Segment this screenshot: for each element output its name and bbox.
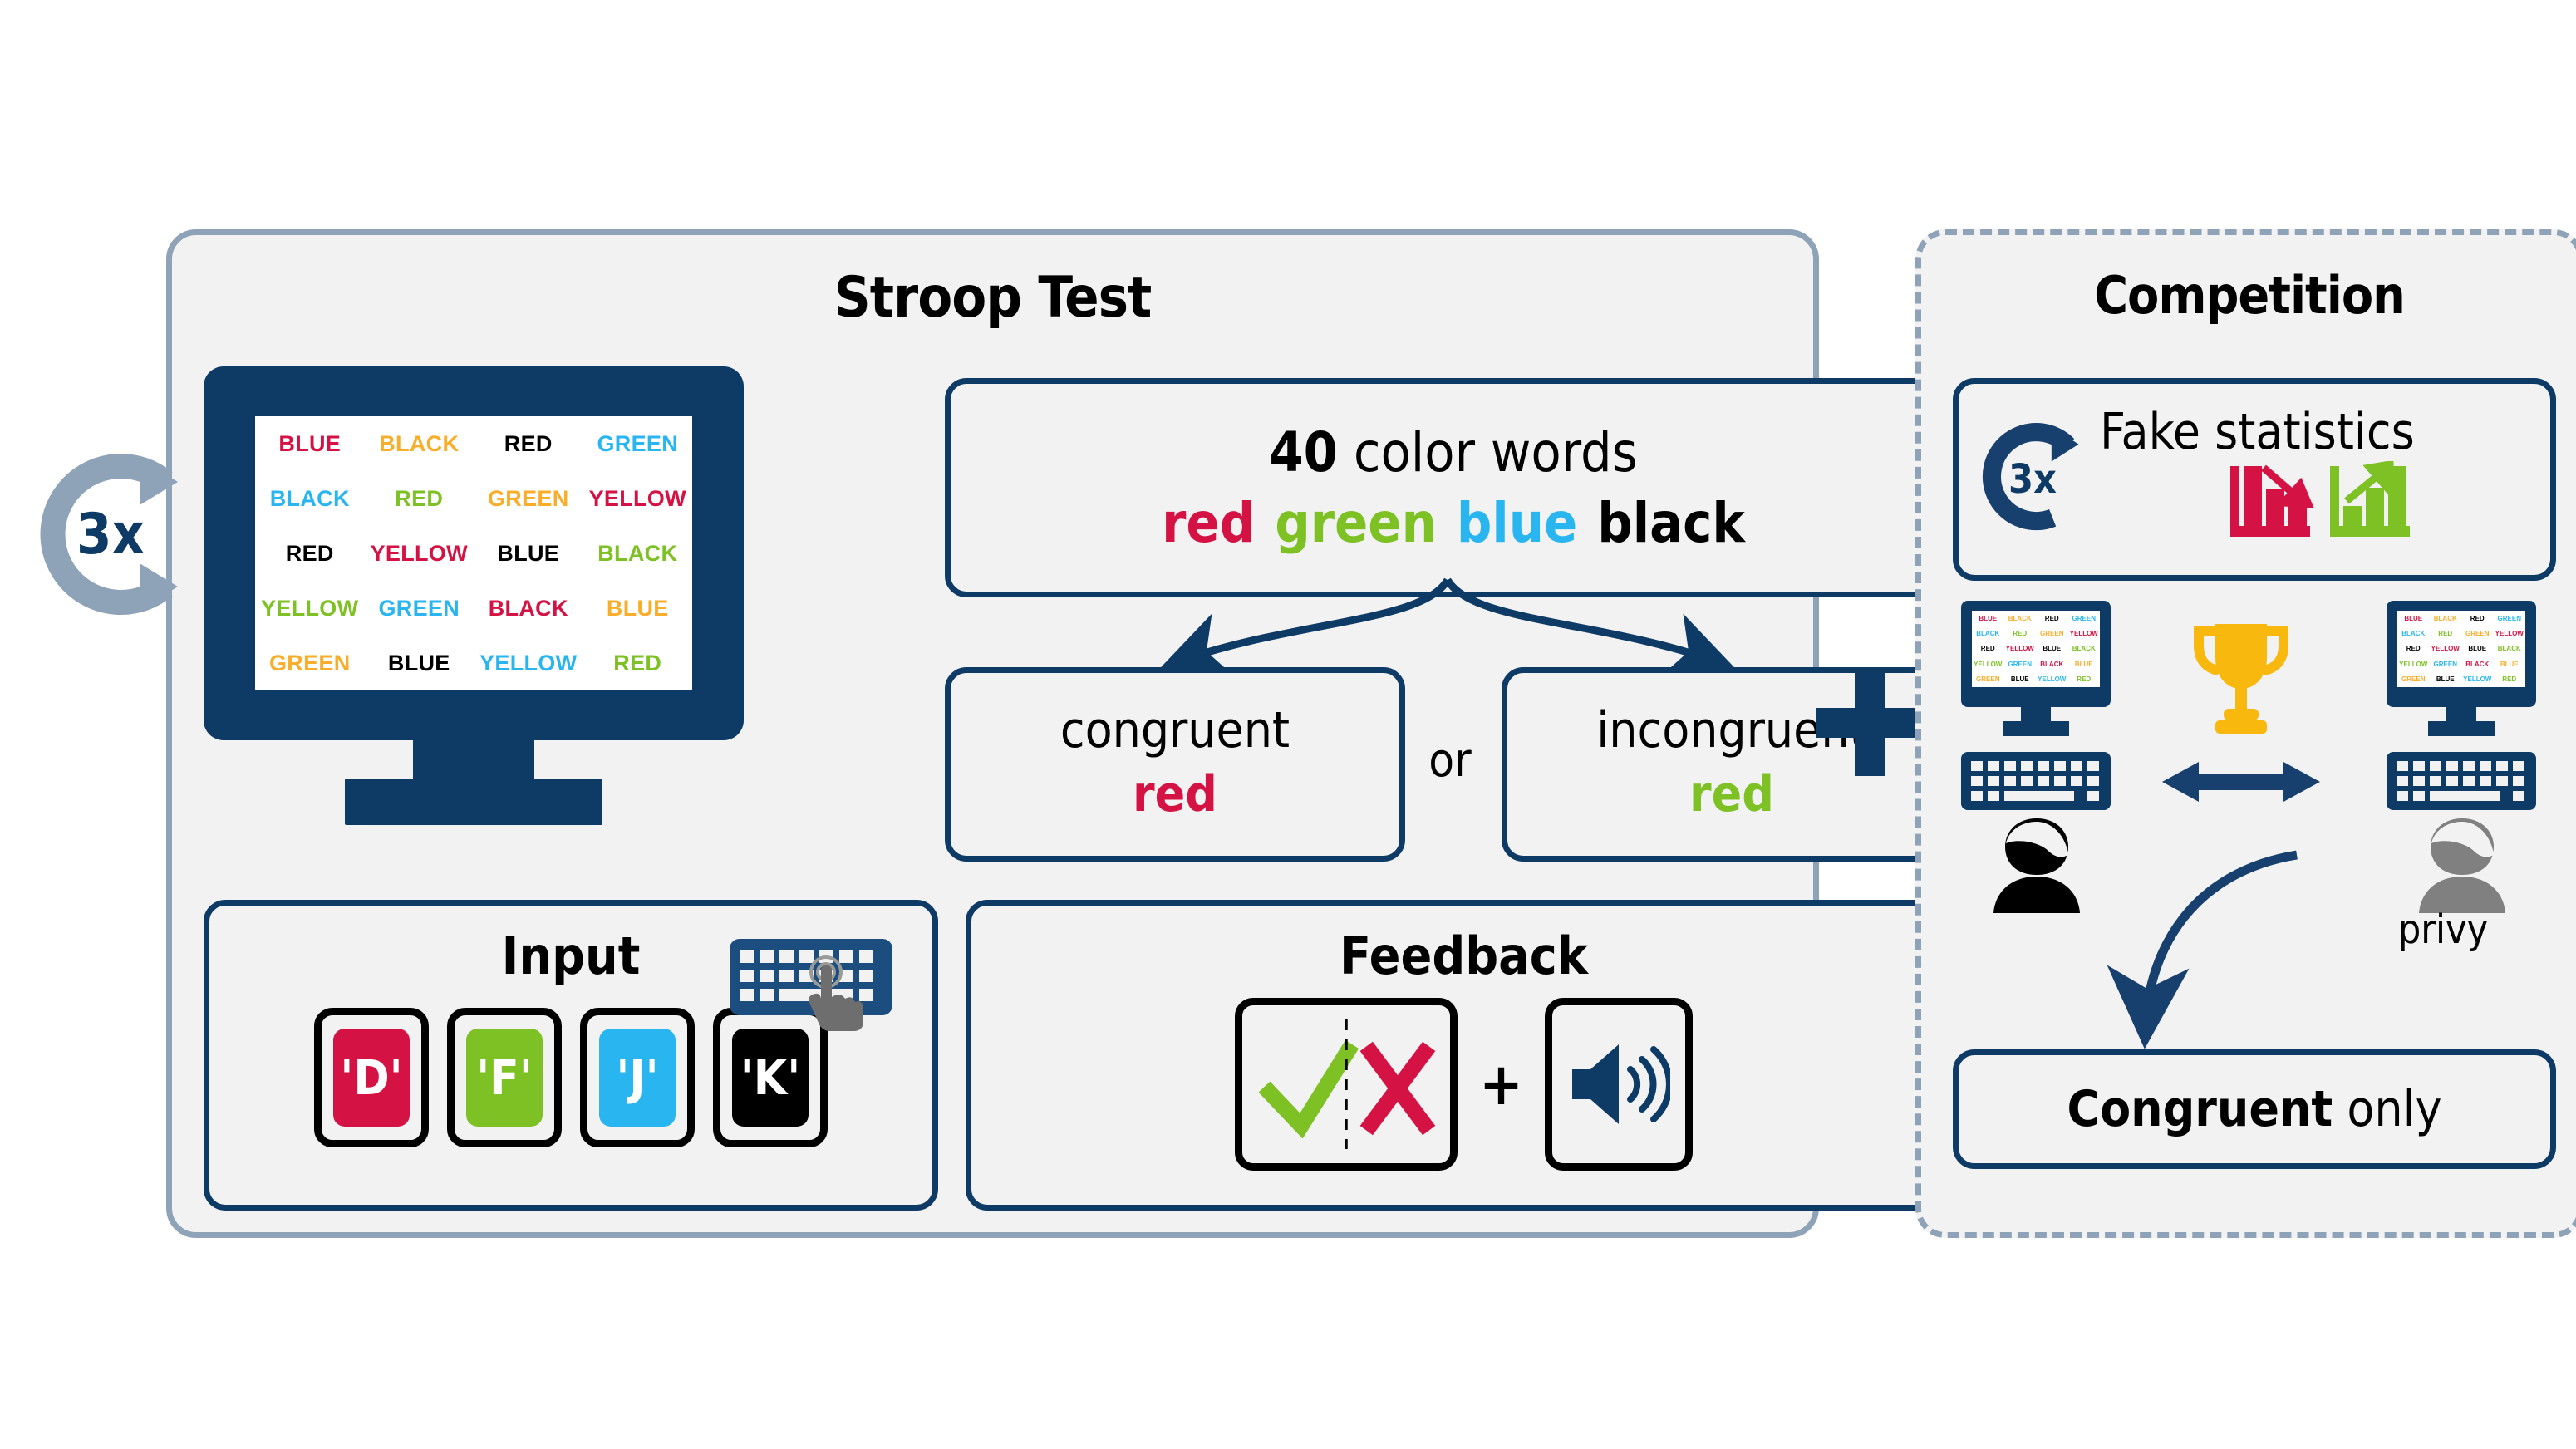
color-word-swatch: blue <box>1457 491 1577 555</box>
stroop-word-grid: BLUEBLACKREDGREENBLACKREDGREENYELLOWREDY… <box>255 416 692 690</box>
feedback-plus: + <box>1479 1050 1523 1118</box>
fake-statistics-label: Fake statistics <box>2100 403 2415 461</box>
mini-stroop-word: BLUE <box>2043 645 2061 652</box>
competition-panel: Competition 3x Fake statistics <box>1915 229 2576 1238</box>
opponent-keyboard-icon <box>2387 752 2536 810</box>
repeat-3x-badge: 3x <box>15 439 206 630</box>
stroop-word: BLACK <box>270 486 350 512</box>
feedback-icons-row: + <box>1235 998 1693 1171</box>
monitor-base <box>345 779 602 825</box>
bar-chart-down-icon <box>2229 461 2315 541</box>
mini-stroop-word: BLUE <box>2404 615 2422 622</box>
player-monitor: BLUEBLACKREDGREENBLACKREDGREENYELLOWREDY… <box>1961 601 2111 746</box>
congruent-title: congruent <box>1060 705 1290 756</box>
mini-stroop-word: RED <box>2470 615 2485 622</box>
stroop-word: BLACK <box>489 596 568 621</box>
color-words-label: color words <box>1338 420 1638 484</box>
double-arrow-icon <box>2162 759 2320 805</box>
monitor-screen: BLUEBLACKREDGREENBLACKREDGREENYELLOWREDY… <box>255 416 692 690</box>
mini-stroop-word: RED <box>2502 675 2516 683</box>
input-title: Input <box>502 926 641 986</box>
mini-stroop-word: BLUE <box>2436 675 2455 683</box>
mini-stroop-word: YELLOW <box>2006 645 2034 652</box>
mini-stroop-word: BLUE <box>2468 645 2486 652</box>
branch-arrows <box>945 580 1950 675</box>
response-key[interactable]: 'J' <box>580 1008 695 1147</box>
input-box: Input 'D''F''J''K' <box>204 900 938 1211</box>
check-icon <box>1270 1051 1348 1126</box>
opponent-label: privy <box>2343 906 2543 953</box>
competition-title: Competition <box>1921 265 2576 326</box>
congruent-box: congruent red <box>945 667 1405 862</box>
color-word-swatch: black <box>1597 491 1745 555</box>
stroop-word: BLUE <box>388 651 450 676</box>
stroop-word: RED <box>286 541 334 567</box>
mini-stroop-word: YELLOW <box>2431 645 2460 652</box>
mini-stroop-word: GREEN <box>2040 630 2063 637</box>
stroop-word: GREEN <box>488 486 569 512</box>
player-keyboard-icon <box>1961 752 2111 810</box>
mini-stroop-word: BLUE <box>1979 615 1997 622</box>
mini-stroop-word: GREEN <box>1976 675 1999 683</box>
fake-statistics-box: 3x Fake statistics <box>1953 378 2556 581</box>
color-words-box: 40 color words redgreenblueblack <box>945 378 1962 597</box>
stroop-word: BLACK <box>597 541 677 567</box>
mini-stroop-word: YELLOW <box>2399 661 2427 668</box>
stroop-word: YELLOW <box>479 651 577 676</box>
mini-stroop-word: RED <box>2406 645 2421 652</box>
stroop-word: BLUE <box>278 431 341 457</box>
fake-stats-repeat-badge: 3x <box>1970 417 2095 542</box>
plus-icon <box>1812 665 1928 781</box>
player-monitor-screen: BLUEBLACKREDGREENBLACKREDGREENYELLOWREDY… <box>1972 611 2100 687</box>
mini-stroop-word: BLACK <box>2008 615 2032 622</box>
response-key[interactable]: 'F' <box>447 1008 562 1147</box>
mini-stroop-word: BLACK <box>2401 630 2425 637</box>
opponent-monitor-screen: BLUEBLACKREDGREENBLACKREDGREENYELLOWREDY… <box>2397 611 2525 687</box>
response-key[interactable]: 'D' <box>314 1008 429 1147</box>
mini-stroop-word: YELLOW <box>2463 675 2491 683</box>
congruent-only-rest: only <box>2333 1080 2441 1138</box>
mini-stroop-word: BLUE <box>2075 661 2093 668</box>
sound-card <box>1545 998 1693 1171</box>
stroop-word: BLACK <box>379 431 459 457</box>
mini-stroop-word: BLACK <box>2040 661 2063 668</box>
color-words-swatches: redgreenblueblack <box>1152 491 1755 555</box>
feedback-title: Feedback <box>1340 926 1588 986</box>
mini-stroop-word: RED <box>2045 615 2059 622</box>
color-words-count: 40 <box>1269 420 1338 484</box>
stroop-word: GREEN <box>269 651 351 676</box>
combiner-plus <box>1812 665 1928 781</box>
color-words-count-line: 40 color words <box>1269 420 1637 484</box>
player-monitor-base <box>2003 721 2069 736</box>
mini-stroop-word: RED <box>1981 645 1995 652</box>
response-key-label: 'D' <box>333 1029 410 1127</box>
mini-stroop-word: BLUE <box>2011 675 2029 683</box>
check-cross-icons <box>1250 1013 1443 1156</box>
mini-stroop-word: RED <box>2077 675 2091 683</box>
opponent-monitor-base <box>2428 721 2495 736</box>
mini-stroop-word: YELLOW <box>2495 630 2524 637</box>
fake-stats-repeat-label: 3x <box>1970 417 2095 542</box>
stroop-word: RED <box>613 651 661 676</box>
congruent-only-box: Congruent only <box>1953 1049 2556 1169</box>
incongruent-example-word: red <box>1689 765 1774 823</box>
opponent-monitor: BLUEBLACKREDGREENBLACKREDGREENYELLOWREDY… <box>2387 601 2536 746</box>
bar-chart-up-icon <box>2328 461 2415 541</box>
competitors-diagram: BLUEBLACKREDGREENBLACKREDGREENYELLOWREDY… <box>1953 601 2544 1000</box>
cross-icon <box>1371 1053 1424 1124</box>
mini-stroop-word: YELLOW <box>2070 630 2098 637</box>
stroop-monitor: BLUEBLACKREDGREENBLACKREDGREENYELLOWREDY… <box>204 366 744 757</box>
mini-stroop-word: BLACK <box>1976 630 1999 637</box>
stroop-word: GREEN <box>378 596 460 621</box>
congruent-only-bold: Congruent <box>2067 1080 2333 1138</box>
stroop-word: RED <box>395 486 443 512</box>
stroop-test-panel: Stroop Test BLUEBLACKREDGREENBLACKREDGRE… <box>166 229 1819 1238</box>
congruent-only-text: Congruent only <box>2067 1080 2441 1138</box>
mini-stroop-word: BLACK <box>2498 645 2521 652</box>
color-word-swatch: green <box>1275 491 1437 555</box>
mini-stroop-word: YELLOW <box>2038 675 2066 683</box>
mini-stroop-word: GREEN <box>2434 661 2457 668</box>
mini-stroop-word: GREEN <box>2498 615 2521 622</box>
page-title: Stroop Test <box>172 265 1813 331</box>
stroop-word: YELLOW <box>261 596 358 621</box>
opponent-word-grid: BLUEBLACKREDGREENBLACKREDGREENYELLOWREDY… <box>2397 611 2525 687</box>
stroop-word: YELLOW <box>371 541 468 567</box>
mini-stroop-word: GREEN <box>2465 630 2489 637</box>
correct-wrong-card <box>1235 998 1458 1171</box>
keyboard-icon <box>728 931 894 1039</box>
stroop-word: BLUE <box>607 596 669 621</box>
mini-stroop-word: BLACK <box>2072 645 2096 652</box>
mini-stroop-word: BLUE <box>2500 661 2519 668</box>
trophy-icon <box>2187 619 2295 744</box>
mini-stroop-word: GREEN <box>2072 615 2096 622</box>
feedback-box: Feedback + <box>966 900 1962 1211</box>
speaker-icon <box>1567 1038 1670 1131</box>
mini-stroop-word: RED <box>2438 630 2452 637</box>
stroop-word: GREEN <box>597 431 678 457</box>
repeat-3x-label: 3x <box>15 439 206 630</box>
color-word-swatch: red <box>1162 491 1255 555</box>
mini-stroop-word: GREEN <box>2008 661 2032 668</box>
stroop-word: BLUE <box>497 541 559 567</box>
response-key-label: 'F' <box>466 1029 543 1127</box>
mini-stroop-word: YELLOW <box>1974 661 2002 668</box>
or-label: or <box>1400 734 1500 788</box>
stroop-word: RED <box>504 431 553 457</box>
mini-stroop-word: RED <box>2013 630 2027 637</box>
stroop-word: YELLOW <box>589 486 686 512</box>
opponent-avatar <box>2408 815 2516 915</box>
response-key-label: 'K' <box>732 1029 809 1127</box>
fake-statistics-charts <box>2229 461 2415 541</box>
player-word-grid: BLUEBLACKREDGREENBLACKREDGREENYELLOWREDY… <box>1972 611 2100 687</box>
congruent-example-word: red <box>1133 765 1217 823</box>
privy-to-congruent-arrow <box>2069 850 2418 1066</box>
mini-stroop-word: BLACK <box>2465 661 2489 668</box>
mini-stroop-word: BLACK <box>2434 615 2457 622</box>
response-key-label: 'J' <box>599 1029 676 1127</box>
mini-stroop-word: GREEN <box>2401 675 2425 683</box>
